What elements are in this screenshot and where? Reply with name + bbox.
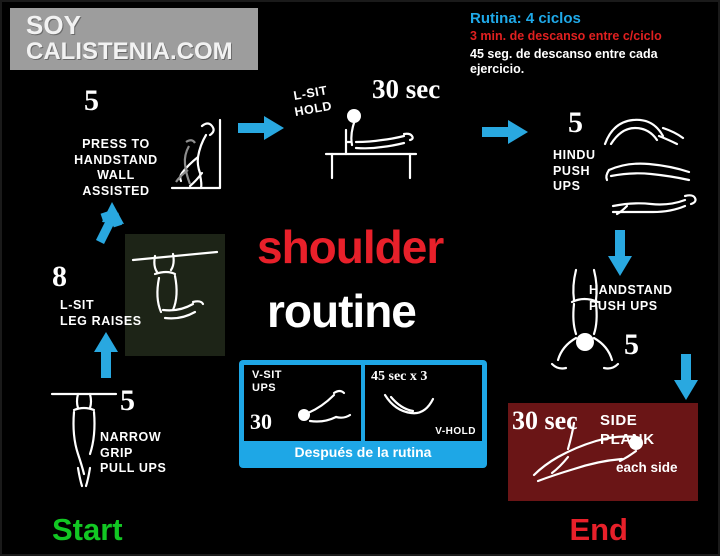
reps-side-plank: 30 sec: [512, 406, 578, 436]
logo: SOY CALISTENIA.COM: [10, 8, 258, 70]
note-cycles: Rutina: 4 ciclos: [470, 10, 710, 27]
note-rest-between-cycles: 3 min. de descanso entre c/ciclo: [470, 29, 710, 44]
routine-notes: Rutina: 4 ciclos 3 min. de descanso entr…: [470, 10, 710, 77]
finisher-box: V-SIT UPS 30 45 sec x 3 V-HOLD De: [239, 360, 487, 468]
finisher-right-panel: 45 sec x 3 V-HOLD: [365, 365, 482, 441]
arrow-press-to-lsit: [238, 114, 284, 142]
note-rest-between-exercises: 45 seg. de descanso entre cada ejercicio…: [470, 47, 710, 77]
arrow-pullups-to-legraises: [92, 332, 120, 378]
figure-hindu-push-ups: [597, 110, 707, 220]
l-sit-leg-raises-photo: [125, 234, 225, 356]
reps-l-sit-hold: 30 sec: [372, 74, 440, 105]
end-marker: End: [569, 512, 628, 548]
title-line-2: routine: [267, 284, 416, 338]
reps-v-sit-ups: 30: [250, 409, 272, 435]
figure-narrow-grip-pull-ups: [44, 382, 124, 492]
label-v-hold: V-HOLD: [435, 426, 476, 437]
arrow-handstand-to-sideplank: [672, 354, 700, 400]
title-line-1: shoulder: [257, 220, 443, 274]
label-side-plank: SIDE PLANK: [600, 412, 680, 450]
logo-line-1: SOY: [26, 10, 81, 41]
reps-press-to-handstand: 5: [84, 84, 99, 118]
reps-l-sit-leg-raises: 8: [52, 260, 67, 294]
figure-press-to-handstand: [142, 112, 232, 197]
figure-handstand-push-ups: [542, 264, 634, 376]
logo-line-2: CALISTENIA.COM: [26, 38, 233, 66]
label-l-sit-leg-raises: L-SIT LEG RAISES: [60, 298, 152, 329]
reps-v-hold: 45 sec x 3: [371, 369, 427, 385]
figure-l-sit-hold: [312, 102, 432, 182]
note-side-plank-each-side: each side: [616, 460, 678, 475]
arrow-to-press-to-handstand: [88, 198, 130, 244]
finisher-caption: Después de la rutina: [239, 444, 487, 460]
infographic-canvas: SOY CALISTENIA.COM Rutina: 4 ciclos 3 mi…: [0, 0, 720, 556]
finisher-left-panel: V-SIT UPS 30: [244, 365, 361, 441]
arrow-lsit-to-hindu: [482, 118, 528, 146]
reps-hindu-push-ups: 5: [568, 106, 583, 140]
start-marker: Start: [52, 512, 123, 548]
label-v-sit-ups: V-SIT UPS: [252, 369, 282, 395]
